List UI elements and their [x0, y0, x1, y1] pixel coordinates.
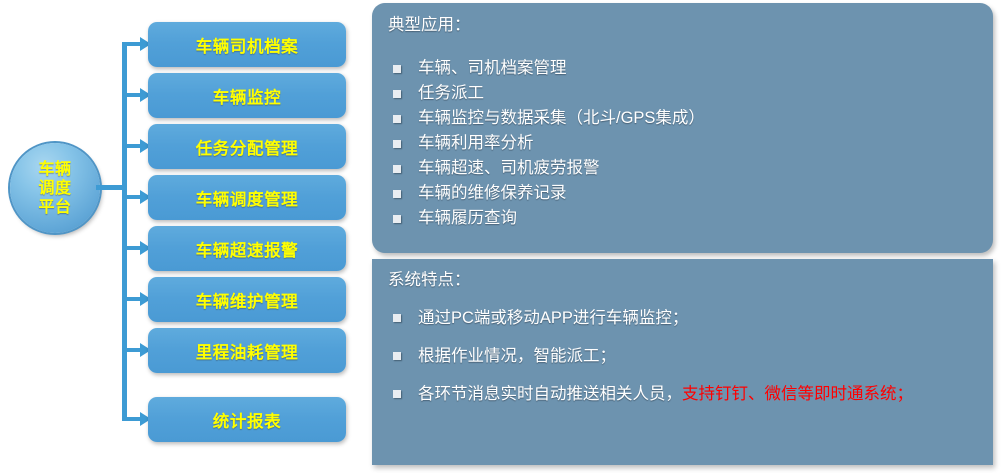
- connector-arm-4: [122, 195, 142, 199]
- hub-node-vehicle-dispatch-platform[interactable]: 车辆 调度 平台: [10, 143, 100, 233]
- module-box-task-assignment[interactable]: 任务分配管理: [148, 124, 346, 169]
- module-box-mileage-fuel[interactable]: 里程油耗管理: [148, 328, 346, 373]
- list-item: 车辆监控与数据采集（北斗/GPS集成）: [388, 106, 977, 131]
- module-box-label: 任务分配管理: [196, 135, 299, 159]
- module-box-label: 车辆司机档案: [196, 33, 299, 57]
- list-item: 任务派工: [388, 81, 977, 106]
- hub-label-line-3: 平台: [38, 198, 71, 217]
- module-box-label: 里程油耗管理: [196, 339, 299, 363]
- connector-arm-7: [122, 348, 142, 352]
- list-item: 各环节消息实时自动推送相关人员，支持钉钉、微信等即时通系统；: [388, 375, 977, 413]
- list-item: 车辆的维修保养记录: [388, 181, 977, 206]
- features-list: 通过PC端或移动APP进行车辆监控； 根据作业情况，智能派工； 各环节消息实时自…: [388, 299, 977, 413]
- list-item: 通过PC端或移动APP进行车辆监控；: [388, 299, 977, 337]
- module-box-label: 车辆超速报警: [196, 237, 299, 261]
- applications-list: 车辆、司机档案管理 任务派工 车辆监控与数据采集（北斗/GPS集成） 车辆利用率…: [388, 56, 977, 231]
- feature-text: 通过PC端或移动APP进行车辆监控；: [418, 309, 688, 327]
- module-box-vehicle-maintenance[interactable]: 车辆维护管理: [148, 277, 346, 322]
- panel-title-applications: 典型应用：: [388, 13, 977, 37]
- connector-arm-5: [122, 246, 142, 250]
- list-item: 车辆利用率分析: [388, 131, 977, 156]
- module-box-vehicle-driver-archive[interactable]: 车辆司机档案: [148, 22, 346, 67]
- list-item: 车辆履历查询: [388, 206, 977, 231]
- list-item: 车辆、司机档案管理: [388, 56, 977, 81]
- connector-arm-1: [122, 42, 142, 46]
- module-box-label: 车辆调度管理: [196, 186, 299, 210]
- module-box-vehicle-monitoring[interactable]: 车辆监控: [148, 73, 346, 118]
- connector-arm-3: [122, 144, 142, 148]
- feature-highlight-text: 支持钉钉、微信等即时通系统；: [682, 385, 913, 403]
- hub-label-line-1: 车辆: [38, 160, 71, 179]
- connector-vertical-spine: [122, 44, 127, 419]
- connector-arm-8: [122, 417, 142, 421]
- hub-label-line-2: 调度: [38, 179, 71, 198]
- module-box-label: 车辆监控: [213, 84, 281, 108]
- list-item: 根据作业情况，智能派工；: [388, 337, 977, 375]
- connector-arm-6: [122, 297, 142, 301]
- diagram-canvas: 车辆 调度 平台 车辆司机档案 车辆监控 任务分配管理 车辆调度管理 车辆超速报…: [0, 0, 1001, 473]
- module-box-label: 车辆维护管理: [196, 288, 299, 312]
- panel-title-features: 系统特点：: [388, 268, 977, 292]
- module-box-vehicle-dispatch[interactable]: 车辆调度管理: [148, 175, 346, 220]
- feature-text: 根据作业情况，智能派工；: [418, 347, 616, 365]
- panel-system-features: 系统特点： 通过PC端或移动APP进行车辆监控； 根据作业情况，智能派工； 各环…: [372, 259, 993, 465]
- module-box-statistics-report[interactable]: 统计报表: [148, 397, 346, 442]
- list-item: 车辆超速、司机疲劳报警: [388, 156, 977, 181]
- module-box-label: 统计报表: [213, 408, 281, 432]
- connector-arm-2: [122, 93, 142, 97]
- feature-text: 各环节消息实时自动推送相关人员，: [418, 385, 682, 403]
- module-box-overspeed-alarm[interactable]: 车辆超速报警: [148, 226, 346, 271]
- panel-typical-applications: 典型应用： 车辆、司机档案管理 任务派工 车辆监控与数据采集（北斗/GPS集成）…: [372, 3, 993, 253]
